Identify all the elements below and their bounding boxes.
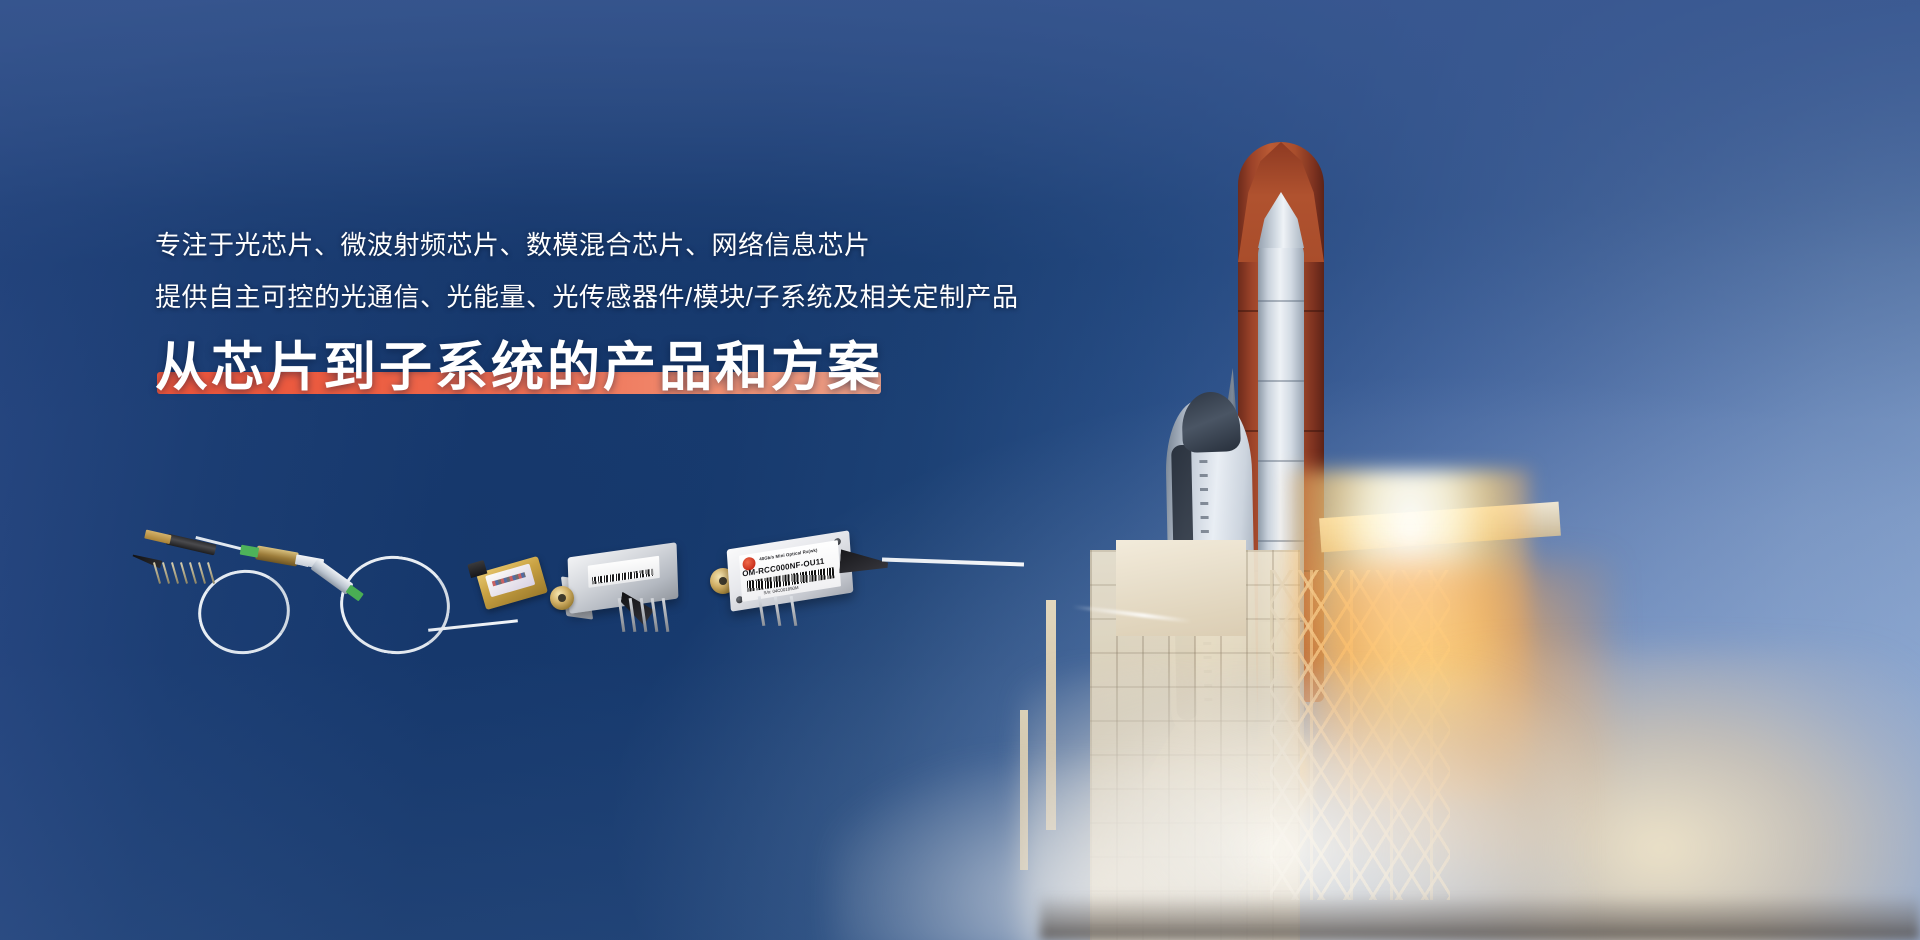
receiver-fiber-tail (882, 558, 1024, 567)
banner-subtitle-line-2: 提供自主可控的光通信、光能量、光传感器件/模块/子系统及相关定制产品 (155, 284, 1055, 310)
ground-shadow (1040, 894, 1920, 940)
hero-banner: 专注于光芯片、微波射频芯片、数模混合芯片、网络信息芯片 提供自主可控的光通信、光… (0, 0, 1920, 940)
laser-thermal-cap (467, 560, 487, 578)
booster-band (1258, 380, 1304, 382)
fiber-connector (310, 558, 353, 594)
fiber-cable-loop (334, 549, 457, 661)
rf-module-label (588, 556, 660, 588)
laser-package-lid (485, 563, 535, 597)
banner-subtitle-line-1: 专注于光芯片、微波射频芯片、数模混合芯片、网络信息芯片 (155, 232, 1055, 258)
rf-module-pin-array (620, 598, 678, 632)
booster-band (1258, 300, 1304, 302)
banner-headline: 从芯片到子系统的产品和方案 (155, 340, 883, 396)
banner-copy: 专注于光芯片、微波射频芯片、数模混合芯片、网络信息芯片 提供自主可控的光通信、光… (155, 232, 1055, 396)
receiver-label: 40Gb/s Mini Optical Rx(wk) OM-RCC000NF-O… (739, 540, 841, 602)
fiber-connector-right (255, 545, 299, 566)
laser-pin-array (156, 562, 214, 584)
sma-connector (550, 586, 574, 610)
product-photo-strip: 40Gb/s Mini Optical Rx(wk) OM-RCC000NF-O… (150, 528, 1070, 668)
banner-headline-wrap: 从芯片到子系统的产品和方案 (155, 340, 883, 396)
receiver-pin-array (760, 596, 814, 626)
fiber-connector-left (165, 534, 216, 556)
booster-band (1258, 460, 1304, 462)
laser-package-body (476, 556, 548, 610)
